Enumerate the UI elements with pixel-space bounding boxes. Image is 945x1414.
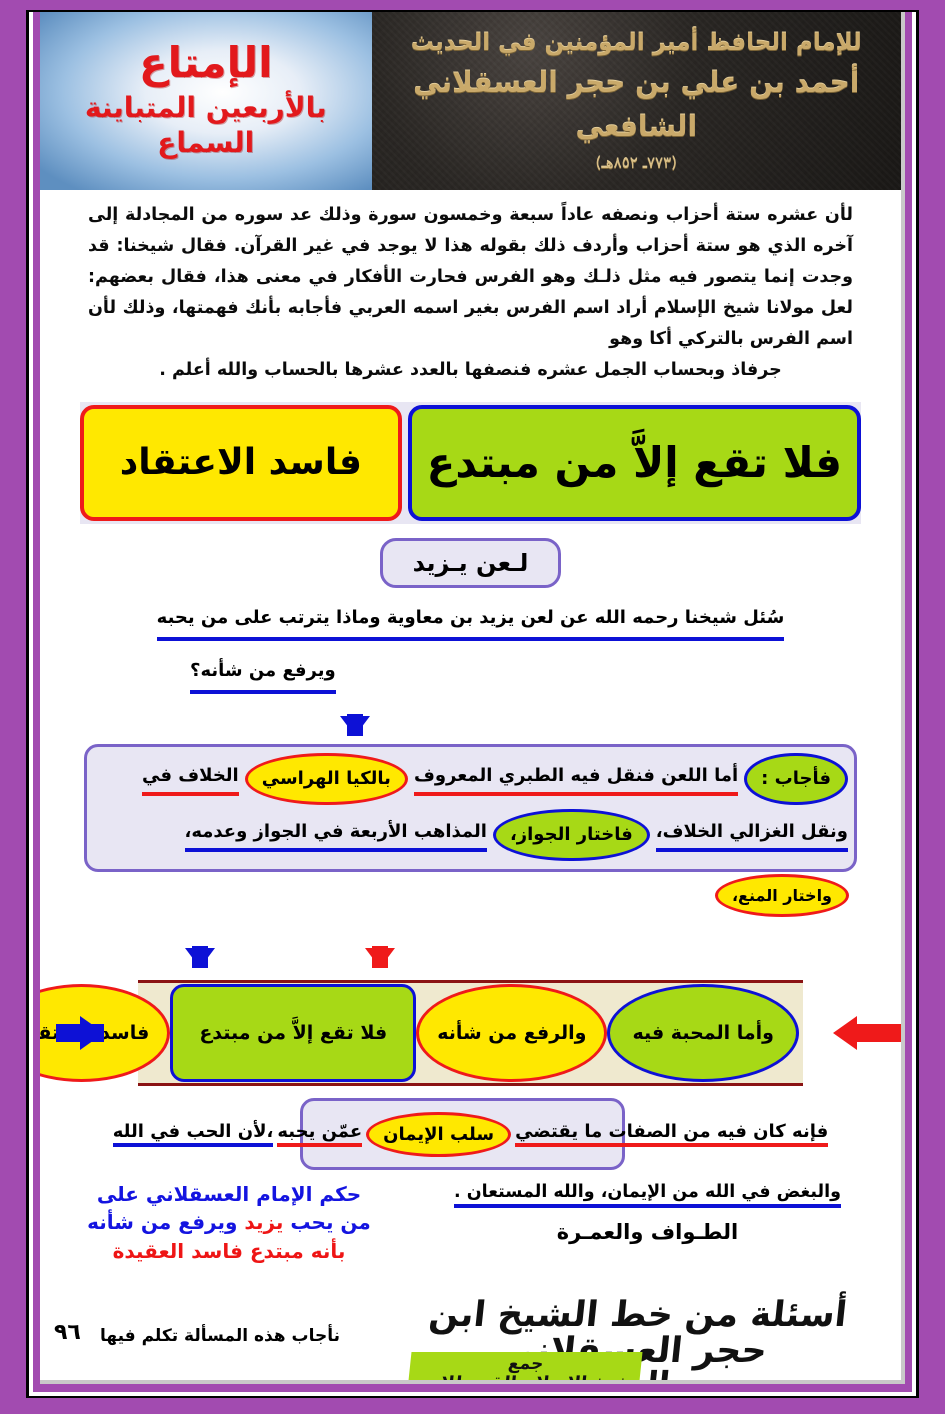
main-paragraph: لأن عشره ستة أحزاب ونصفه عاداً سبعة وخمس… [88,200,853,386]
answer-line1-seg2: الخلاف في [142,762,239,796]
next-section-heading: الطـواف والعمـرة [454,1220,841,1244]
alkiya-alharrasi-ellipse: بالكيا الهراسي [245,753,408,806]
chose-prohibition-ellipse: واختار المنع، [715,874,849,917]
arrow-row-above-answer [40,694,901,738]
chose-permissibility-ellipse: فاختار الجواز، [493,809,650,862]
red-left-arrow [833,1016,857,1050]
answer-line-1: فأجاب : أما اللعن فنقل فيه الطبري المعرو… [93,751,848,807]
blue-down-arrow-2 [185,948,215,968]
paragraph-text: لأن عشره ستة أحزاب ونصفه عاداً سبعة وخمس… [88,205,853,349]
answer-block: فأجاب : أما اللعن فنقل فيه الطبري المعرو… [84,744,857,872]
annotation-mix-b: يزيد [237,1210,290,1234]
annotation-mix-a: من يحب [290,1210,370,1234]
tail-row: والبغض في الله من الإيمان، والله المستعا… [40,1182,901,1302]
stripping-faith-ellipse: سلب الإيمان [366,1112,511,1157]
annotation-line-1: حكم الإمام العسقلاني على [64,1180,394,1208]
book-title-photo-right: الإمتاع بالأربعين المتباينة السماع [40,12,371,190]
answer-line2-seg2: ونقل الغزالي الخلاف، [656,818,848,852]
cover-author-dates: (٧٧٣ـ ٨٥٢هـ) [372,154,902,172]
topic-pill-row: لـعن يـزيد [40,538,901,588]
header-cover-band: للإمام الحافظ أمير المؤمنين في الحديث أح… [40,12,901,190]
tail-right-column: والبغض في الله من الإيمان، والله المستعا… [454,1182,841,1244]
band-shape-elevation: والرفع من شأنه [416,984,607,1082]
bottom-note-text: نأجاب هذه المسألة تكلم فيها [100,1326,340,1346]
bottom-row: ٩٦ نأجاب هذه المسألة تكلم فيها أسئلة من … [40,1304,901,1380]
cover-author-title-line: للإمام الحافظ أمير المؤمنين في الحديث [372,26,902,61]
red-down-arrow [365,948,395,968]
question-line-1: سُئل شيخنا رحمه الله عن لعن يزيد بن معاو… [84,600,857,641]
chose-prohibition-row: واختار المنع، [84,874,857,932]
annotation-line-3: بأنه مبتدع فاسد العقيدة [64,1237,394,1265]
question-text-1: سُئل شيخنا رحمه الله عن لعن يزيد بن معاو… [157,600,785,641]
answer-label-ellipse: فأجاب : [744,753,848,806]
explanation-row: فإنه كان فيه من الصفات ما يقتضي سلب الإي… [84,1096,857,1172]
document-body: لأن عشره ستة أحزاب ونصفه عاداً سبعة وخمس… [40,190,901,1380]
main-band-wrapper: وأما المحبة فيه والرفع من شأنه فلا تقع إ… [80,980,861,1086]
tail-closing-line: والبغض في الله من الإيمان، والله المستعا… [454,1182,841,1208]
topic-pill: لـعن يـزيد [380,538,562,588]
main-concept-band: وأما المحبة فيه والرفع من شأنه فلا تقع إ… [138,980,803,1086]
explanation-seg3: ،لأن الحب في الله [113,1121,274,1147]
page-number: ٩٦ [54,1320,81,1345]
book-cover-photo-left: للإمام الحافظ أمير المؤمنين في الحديث أح… [372,12,902,190]
highlight-green-box: فلا تقع إلاَّ من مبتدع [408,405,861,521]
answer-line-2: ونقل الغزالي الخلاف، فاختار الجواز، المذ… [93,807,848,863]
bottom-calligraphy-block: أسئلة من خط الشيخ ابن حجر العسقلاني والج… [401,1298,871,1380]
document-sheet: للإمام الحافظ أمير المؤمنين في الحديث أح… [40,12,901,1380]
annotation-note: حكم الإمام العسقلاني على من يحب يزيد وير… [64,1180,394,1265]
highlight-box-row: فلا تقع إلاَّ من مبتدع فاسد الاعتقاد [80,402,861,524]
band-shape-love: وأما المحبة فيه [607,984,799,1082]
answer-line1-seg1: أما اللعن فنقل فيه الطبري المعروف [414,762,738,796]
calli-highlight-stamp: جمع شيخ الإسلام القسطلاني [406,1352,642,1380]
page-root: للإمام الحافظ أمير المؤمنين في الحديث أح… [0,0,945,1414]
cover-book-subtitle: بالأربعين المتباينة السماع [40,90,371,160]
blue-down-arrow-1 [340,716,370,736]
explanation-seg1: فإنه كان فيه من الصفات ما يقتضي [515,1121,828,1147]
question-line-2: ويرفع من شأنه؟ [40,653,857,694]
cover-author-name-line: أحمد بن علي بن حجر العسقلاني الشافعي [372,61,902,151]
annotation-line-2: من يحب يزيد ويرفع من شأنه [64,1208,394,1236]
cover-right-calligraphy: الإمتاع بالأربعين المتباينة السماع [40,42,371,160]
blue-right-arrow [80,1016,104,1050]
cover-book-title: الإمتاع [40,42,371,84]
arrow-row-above-band [40,932,901,976]
calli-highlight-line-2: شيخ الإسلام القسطلاني [415,1374,632,1380]
highlight-yellow-box: فاسد الاعتقاد [80,405,402,521]
tail-closing-text: والبغض في الله من الإيمان، والله المستعا… [454,1182,841,1208]
annotation-mix-c: ويرفع من شأنه [87,1210,237,1234]
explanation-seg2: عمّن يحبه [277,1121,362,1147]
calli-highlight-line-1: جمع [417,1356,634,1374]
paragraph-last-line: جرفاذ وبحساب الجمل عشره فنصفها بالعدد عش… [88,355,853,386]
explanation-content: فإنه كان فيه من الصفات ما يقتضي سلب الإي… [84,1096,857,1172]
cover-left-calligraphy: للإمام الحافظ أمير المؤمنين في الحديث أح… [372,12,902,172]
band-shape-innovator: فلا تقع إلاَّ من مبتدع [170,984,416,1082]
question-text-2: ويرفع من شأنه؟ [190,653,336,694]
answer-line2-seg1: المذاهب الأربعة في الجواز وعدمه، [185,818,487,852]
